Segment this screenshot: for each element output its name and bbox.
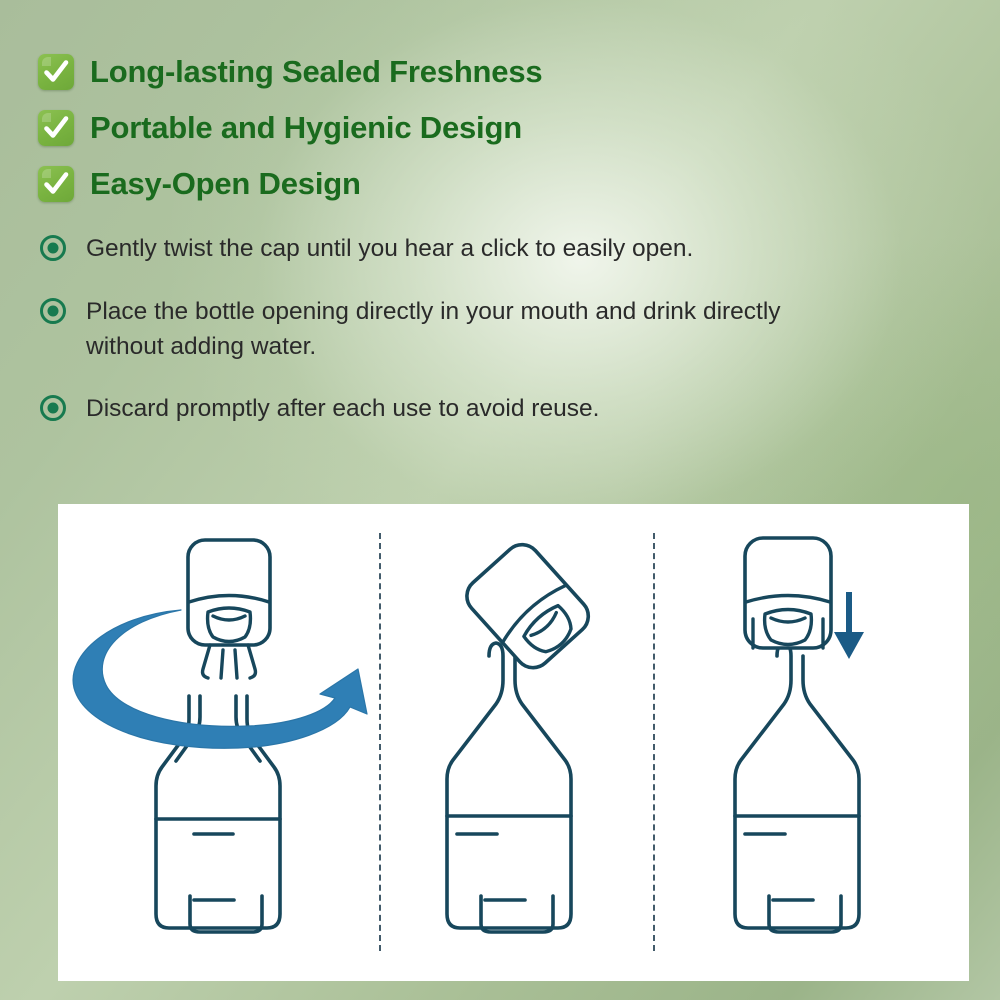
feature-label: Long-lasting Sealed Freshness xyxy=(90,54,542,90)
radio-dot-icon xyxy=(40,235,66,261)
remove-cap-illustration xyxy=(379,504,653,981)
feature-label: Portable and Hygienic Design xyxy=(90,110,522,146)
feature-item: Portable and Hygienic Design xyxy=(38,100,738,156)
down-arrow-icon xyxy=(834,592,864,659)
instruction-text: Discard promptly after each use to avoid… xyxy=(86,392,599,427)
instruction-item: Gently twist the cap until you hear a cl… xyxy=(40,232,840,267)
radio-dot-icon xyxy=(40,298,66,324)
instruction-item: Discard promptly after each use to avoid… xyxy=(40,392,840,427)
feature-item: Easy-Open Design xyxy=(38,156,738,212)
check-square-icon xyxy=(38,54,74,90)
twist-cap-illustration xyxy=(58,504,379,981)
instruction-text: Place the bottle opening directly in you… xyxy=(86,295,826,365)
press-cap-illustration xyxy=(653,504,969,981)
check-square-icon xyxy=(38,110,74,146)
feature-list: Long-lasting Sealed Freshness Portable a… xyxy=(38,44,738,212)
illustration-panel xyxy=(58,504,969,981)
instruction-text: Gently twist the cap until you hear a cl… xyxy=(86,232,693,267)
feature-item: Long-lasting Sealed Freshness xyxy=(38,44,738,100)
instruction-list: Gently twist the cap until you hear a cl… xyxy=(40,232,840,427)
check-square-icon xyxy=(38,166,74,202)
product-infographic: Long-lasting Sealed Freshness Portable a… xyxy=(0,0,1000,1000)
feature-label: Easy-Open Design xyxy=(90,166,361,202)
instruction-item: Place the bottle opening directly in you… xyxy=(40,295,840,365)
radio-dot-icon xyxy=(40,395,66,421)
